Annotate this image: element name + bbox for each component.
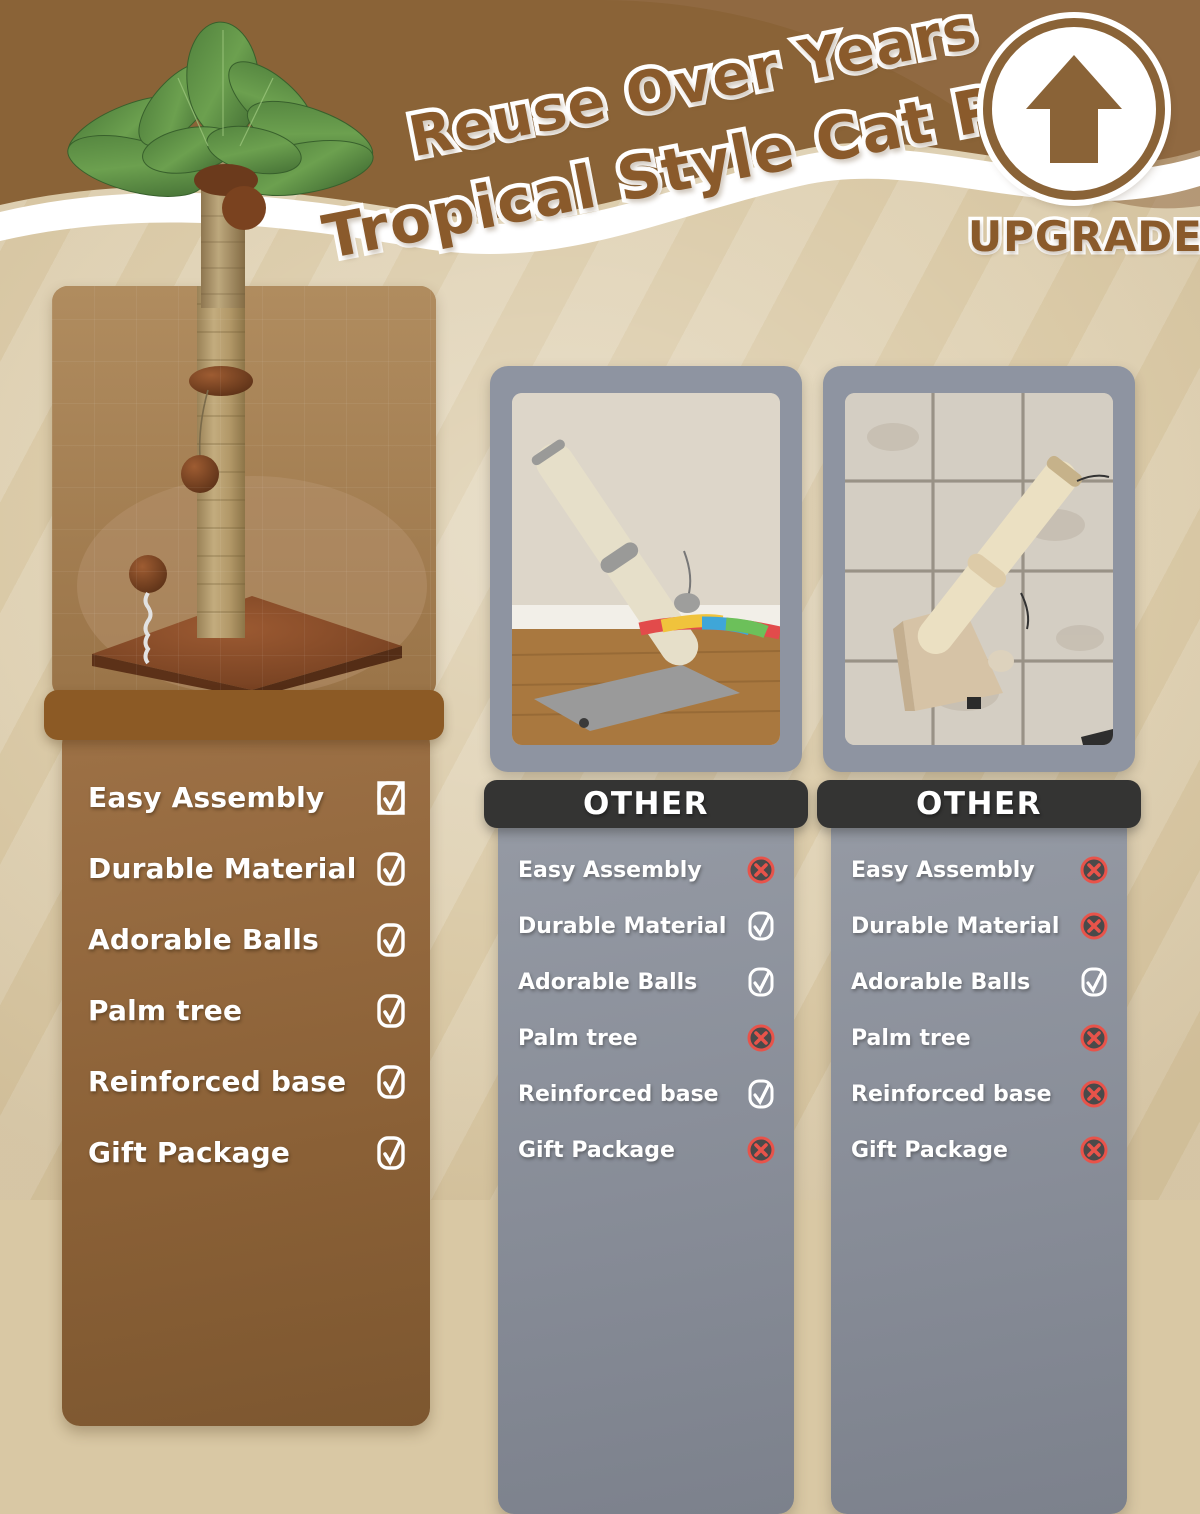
collapsed-post-photo-illustration	[845, 393, 1113, 745]
cross-circle-icon	[1079, 1023, 1109, 1053]
photo-grid-overlay	[52, 286, 436, 698]
feature-label: Durable Material	[88, 852, 357, 885]
product-header-bar-ours	[44, 690, 444, 740]
check-circle-icon	[374, 1134, 408, 1172]
feature-row: Adorable Balls	[518, 954, 776, 1010]
feature-label: Gift Package	[88, 1136, 290, 1169]
feature-row: Palm tree	[518, 1010, 776, 1066]
feature-label: Palm tree	[88, 994, 242, 1027]
cross-circle-icon	[746, 1023, 776, 1053]
cross-circle-icon	[1079, 1079, 1109, 1109]
feature-row: Gift Package	[851, 1122, 1109, 1178]
feature-list-other-1: Easy Assembly Durable Material Adorable …	[498, 814, 794, 1514]
check-circle-icon	[374, 992, 408, 1030]
product-header-label-other-1: OTHER	[583, 786, 709, 822]
check-circle-icon	[1079, 966, 1109, 998]
upgrade-badge-label: UPGRADE	[968, 212, 1180, 261]
cross-circle-icon	[1079, 1135, 1109, 1165]
feature-row: Adorable Balls	[88, 904, 408, 975]
feature-label: Durable Material	[518, 914, 726, 939]
feature-label: Easy Assembly	[88, 781, 324, 814]
feature-row: Durable Material	[518, 898, 776, 954]
feature-row: Palm tree	[851, 1010, 1109, 1066]
product-photo-other-2	[845, 393, 1113, 745]
leaning-post-photo-illustration	[512, 393, 780, 745]
check-circle-icon	[746, 910, 776, 942]
feature-label: Easy Assembly	[518, 858, 702, 883]
feature-label: Adorable Balls	[88, 923, 319, 956]
feature-row: Reinforced base	[518, 1066, 776, 1122]
cross-circle-icon	[746, 855, 776, 885]
product-photo-card-other-2	[823, 366, 1135, 772]
product-header-label-other-2: OTHER	[916, 786, 1042, 822]
cross-circle-icon	[746, 1135, 776, 1165]
feature-row: Palm tree	[88, 975, 408, 1046]
arrow-up-icon	[1022, 49, 1126, 169]
feature-label: Adorable Balls	[851, 970, 1030, 995]
upgrade-badge: UPGRADE	[968, 18, 1180, 268]
feature-label: Easy Assembly	[851, 858, 1035, 883]
check-circle-icon	[374, 1063, 408, 1101]
feature-label: Palm tree	[851, 1026, 971, 1051]
feature-label: Gift Package	[518, 1138, 675, 1163]
product-column-other-2: OTHER Easy Assembly Durable Material Ado…	[823, 366, 1135, 772]
check-circle-icon	[746, 1078, 776, 1110]
product-column-ours: Easy Assembly Durable Material Adorable …	[52, 286, 436, 698]
product-column-other-1: OTHER Easy Assembly Durable Material Ado…	[490, 366, 802, 772]
feature-row: Easy Assembly	[88, 762, 408, 833]
product-header-bar-other-1: OTHER	[484, 780, 808, 828]
feature-row: Gift Package	[88, 1117, 408, 1188]
feature-row: Adorable Balls	[851, 954, 1109, 1010]
product-header-bar-other-2: OTHER	[817, 780, 1141, 828]
feature-label: Reinforced base	[88, 1065, 346, 1098]
upgrade-badge-circle	[983, 18, 1165, 200]
product-photo-card-other-1	[490, 366, 802, 772]
check-circle-icon	[746, 966, 776, 998]
check-circle-icon	[374, 850, 408, 888]
feature-row: Easy Assembly	[851, 842, 1109, 898]
feature-row: Reinforced base	[88, 1046, 408, 1117]
feature-row: Reinforced base	[851, 1066, 1109, 1122]
check-circle-icon	[374, 921, 408, 959]
feature-label: Gift Package	[851, 1138, 1008, 1163]
feature-label: Durable Material	[851, 914, 1059, 939]
palm-tree-decoration	[58, 18, 388, 308]
feature-label: Palm tree	[518, 1026, 638, 1051]
feature-label: Reinforced base	[518, 1082, 719, 1107]
product-photo-ours	[52, 286, 436, 698]
check-circle-icon	[374, 779, 408, 817]
feature-list-ours: Easy Assembly Durable Material Adorable …	[62, 726, 430, 1426]
feature-label: Reinforced base	[851, 1082, 1052, 1107]
feature-row: Easy Assembly	[518, 842, 776, 898]
feature-label: Adorable Balls	[518, 970, 697, 995]
product-photo-other-1	[512, 393, 780, 745]
feature-row: Durable Material	[851, 898, 1109, 954]
cross-circle-icon	[1079, 911, 1109, 941]
feature-list-other-2: Easy Assembly Durable Material Adorable …	[831, 814, 1127, 1514]
cross-circle-icon	[1079, 855, 1109, 885]
feature-row: Durable Material	[88, 833, 408, 904]
feature-row: Gift Package	[518, 1122, 776, 1178]
